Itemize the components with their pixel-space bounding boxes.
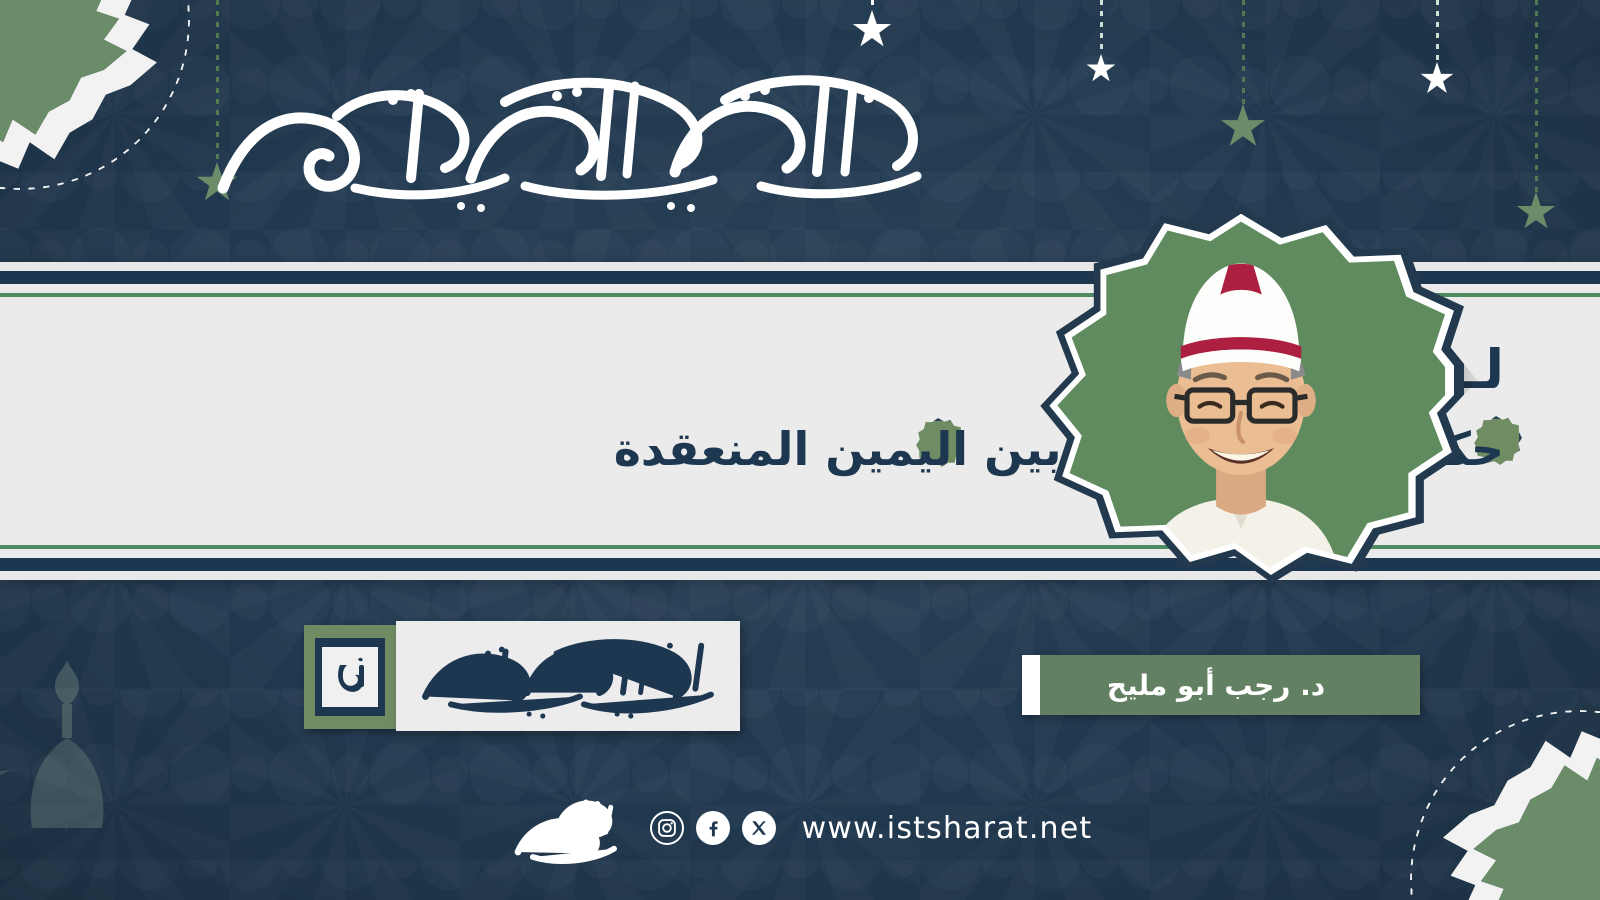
- hanging-string: [1535, 0, 1538, 192]
- banner-canvas: لـغـو الـيـمـيـن.. حكمه والفرق بينه وبين…: [0, 0, 1600, 900]
- seal-glyph-icon: [330, 655, 370, 699]
- website-url[interactable]: www.istsharat.net: [802, 811, 1093, 846]
- seal-inner-frame: [315, 638, 385, 716]
- speaker-name: د. رجب أبو مليح: [1107, 669, 1335, 702]
- consultation-seal: [304, 625, 396, 729]
- consultation-plaque: [396, 621, 740, 731]
- hanging-string: [1100, 0, 1103, 54]
- header-calligraphy: [205, 60, 935, 225]
- hanging-string: [871, 0, 874, 10]
- plaque-calligraphy: [410, 632, 726, 720]
- speaker-name-badge: د. رجب أبو مليح: [1022, 655, 1420, 715]
- facebook-icon[interactable]: [696, 811, 730, 845]
- speaker-portrait: [1018, 205, 1464, 595]
- x-twitter-icon[interactable]: [742, 811, 776, 845]
- hanging-string: [1242, 0, 1245, 104]
- instagram-icon[interactable]: [650, 811, 684, 845]
- seal-core: [322, 647, 378, 707]
- hanging-string: [1436, 0, 1439, 62]
- footer: www.istsharat.net: [0, 790, 1600, 866]
- brand-logo: [508, 790, 624, 866]
- social-links: [650, 811, 776, 845]
